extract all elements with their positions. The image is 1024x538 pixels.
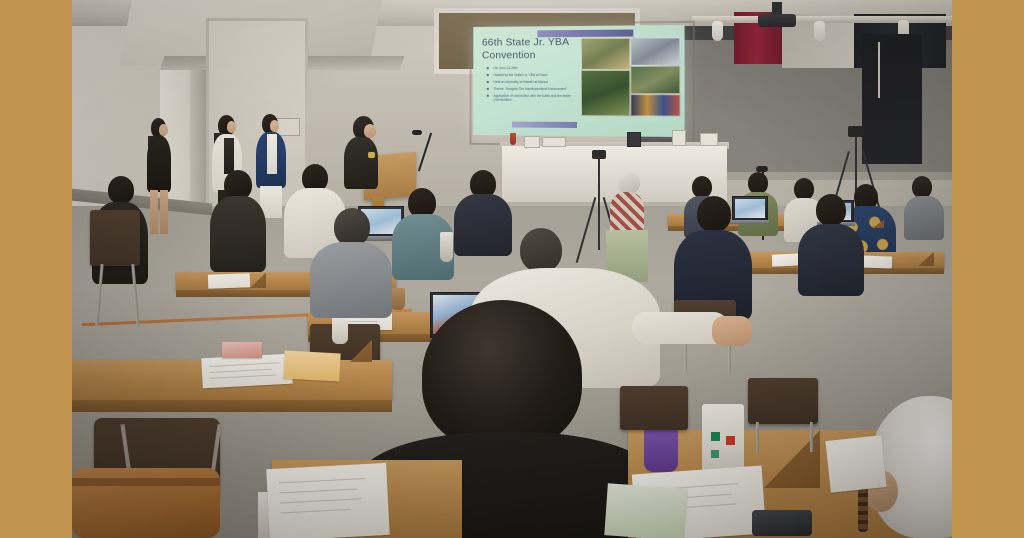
presenter-inner-top <box>224 138 234 174</box>
paper-handout <box>825 435 886 493</box>
attendee-torso <box>210 196 266 272</box>
slide-photo <box>630 37 680 66</box>
paper-line <box>210 369 272 373</box>
slide-title: 66th State Jr. YBA Convention <box>482 36 574 62</box>
presenter-face <box>159 124 168 136</box>
slide-bullet: On June 23-25th <box>486 66 576 71</box>
paper-line <box>279 488 357 493</box>
presenter-shirt <box>267 134 277 174</box>
program-booklet <box>604 483 687 538</box>
purple-plastic-cup <box>644 424 678 472</box>
cup-logo-green <box>711 450 719 458</box>
coffee-cup <box>390 288 405 310</box>
chair-leg <box>756 422 759 452</box>
paper-line <box>210 374 276 378</box>
cup-logo-red <box>726 436 735 445</box>
attendee-hair <box>794 178 814 200</box>
paper-line <box>280 498 362 503</box>
paper-handout <box>862 255 892 268</box>
speaker-torso <box>344 137 378 189</box>
attendee-hair <box>692 176 712 198</box>
laptop-screen-glow <box>735 199 765 218</box>
red-cup <box>510 133 516 145</box>
attendee-hair <box>108 176 134 204</box>
spotlight-icon <box>814 21 825 41</box>
attendee-hair <box>697 196 731 232</box>
paper-line <box>280 509 350 514</box>
water-bottle <box>440 232 453 262</box>
attendee-sweater <box>310 242 392 318</box>
attendee-hair <box>618 172 640 194</box>
right-letterbox-border <box>952 0 1024 538</box>
table-edge <box>72 400 392 412</box>
attendee-hand <box>712 316 752 346</box>
attendee-hair <box>334 208 370 246</box>
paper-handout <box>208 273 250 288</box>
slide-photo <box>630 66 680 95</box>
slide-bullet: Application of connection with the Earth… <box>486 94 576 103</box>
presenter-leg <box>150 190 158 234</box>
slide-title-line1: 66th State Jr. YBA <box>482 36 574 50</box>
presenter-face <box>227 121 236 133</box>
paper-handout <box>266 463 390 538</box>
paper-handout <box>201 354 292 389</box>
chair-leg <box>810 422 813 452</box>
paper-line <box>279 478 365 483</box>
spotlight-icon <box>712 21 723 41</box>
attendee-hair <box>816 194 846 226</box>
presenter-face <box>270 120 279 132</box>
chair[interactable] <box>748 378 818 424</box>
conference-room-photograph: 66th State Jr. YBA Convention On June 23… <box>72 0 952 538</box>
paper-line <box>210 362 280 367</box>
slide-photo <box>581 70 630 116</box>
slide-bullet: Theme: "Imagine Our Interdependent Envir… <box>486 87 576 92</box>
table-item <box>542 137 566 147</box>
slide-bottom-banner <box>512 122 577 128</box>
presenter-dress <box>147 136 171 192</box>
laptop[interactable] <box>732 196 768 222</box>
colored-flyer <box>222 342 262 358</box>
attendee-torso <box>798 224 864 296</box>
attendee-hair <box>422 300 582 450</box>
cup-logo-green <box>711 432 720 441</box>
ceiling-projector <box>758 14 796 27</box>
slide-title-line2: Convention <box>482 49 574 62</box>
left-letterbox-border <box>0 0 72 538</box>
place-card <box>672 130 686 146</box>
projection-screen: 66th State Jr. YBA Convention On June 23… <box>473 25 684 137</box>
slide-photo <box>581 38 630 70</box>
speaker-face <box>364 124 376 138</box>
tripod-leg <box>598 158 600 250</box>
laptop-base <box>729 220 769 224</box>
microphone-icon <box>412 130 422 135</box>
slide-bullet: Held at University of Hawai'i at Manoa <box>486 80 576 84</box>
slide-bullet: Hosted by the United Jr. YBA of Oahu <box>486 73 576 77</box>
attendee-hair <box>912 176 932 198</box>
back-doorway[interactable] <box>862 34 922 164</box>
slide-photo-grid <box>581 37 678 131</box>
slide-bullet-list: On June 23-25th Hosted by the United Jr.… <box>486 66 576 105</box>
speaker-badge <box>368 152 375 158</box>
curtain-pull-cord[interactable] <box>878 42 880 98</box>
attendee-hair <box>520 228 562 272</box>
table-item <box>700 133 718 146</box>
attendee-torso <box>454 194 512 256</box>
table-item <box>524 136 540 148</box>
coffee-cup <box>332 318 348 344</box>
presenter-leg <box>160 190 168 234</box>
slide-photo <box>630 94 680 117</box>
bag-seam <box>72 478 220 486</box>
colored-flyer <box>283 351 340 382</box>
chair[interactable] <box>90 210 140 266</box>
screenshot-root: 66th State Jr. YBA Convention On June 23… <box>0 0 1024 538</box>
smartphone[interactable] <box>752 510 812 536</box>
chair[interactable] <box>620 386 688 430</box>
attendee-torso <box>904 196 944 240</box>
attendee-hair <box>748 172 768 194</box>
table-item <box>627 132 641 147</box>
